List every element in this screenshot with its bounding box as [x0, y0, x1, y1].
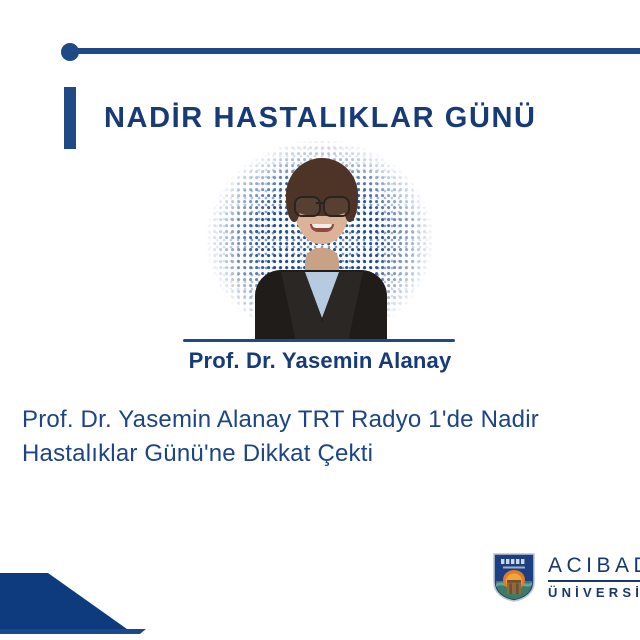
article-headline-line-1: Prof. Dr. Yasemin Alanay TRT Radyo 1'de …: [22, 403, 602, 437]
title-accent-bar: [64, 87, 76, 149]
corner-accent-shape: [0, 573, 140, 634]
speaker-photo: [253, 152, 389, 342]
portrait-block: [185, 140, 455, 342]
speaker-name: Prof. Dr. Yasemin Alanay: [0, 348, 640, 374]
acibadem-logo: ACIBADE ÜNİVERSİT: [492, 552, 640, 602]
poster-canvas: NADİR HASTALIKLAR GÜNÜ Prof. Dr. Yasemin…: [0, 0, 640, 640]
photo-eyeglass-bridge: [316, 202, 324, 204]
acibadem-logo-text: ACIBADE ÜNİVERSİT: [548, 555, 640, 599]
page-title: NADİR HASTALIKLAR GÜNÜ: [104, 100, 537, 136]
article-headline-line-2: Hastalıklar Günü'ne Dikkat Çekti: [22, 437, 602, 471]
header-horizontal-rule: [70, 48, 640, 54]
acibadem-logo-name: ACIBADE: [548, 555, 640, 576]
article-headline: Prof. Dr. Yasemin Alanay TRT Radyo 1'de …: [22, 403, 602, 471]
name-separator-rule: [183, 339, 455, 342]
acibadem-logo-rule: [548, 580, 640, 582]
photo-eyeglass-right: [323, 196, 350, 217]
acibadem-logo-subtitle: ÜNİVERSİT: [548, 586, 640, 599]
acibadem-shield-icon: [492, 552, 536, 602]
corner-accent-underline: [0, 629, 146, 634]
photo-eyeglass-left: [294, 196, 321, 217]
photo-teeth: [312, 224, 332, 228]
